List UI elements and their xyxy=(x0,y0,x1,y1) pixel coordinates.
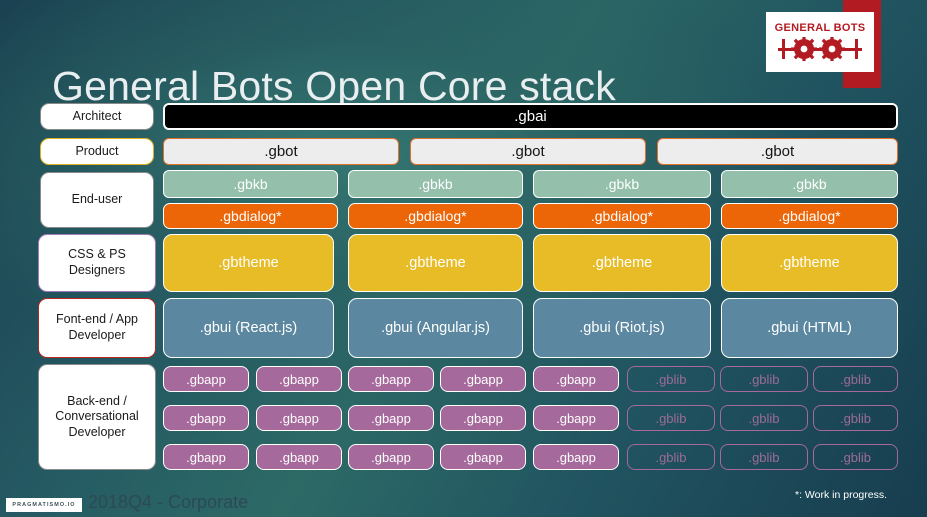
general-bots-logo: GENERAL BOTS xyxy=(766,12,874,72)
stack-box-gbtheme[interactable]: .gbtheme xyxy=(721,234,898,292)
stack-box-gbapp[interactable]: .gbapp xyxy=(163,405,249,431)
stack-box-gblib[interactable]: .gblib xyxy=(813,444,898,470)
stack-box-gblib[interactable]: .gblib xyxy=(813,405,898,431)
stack-box-gbui-html[interactable]: .gbui (HTML) xyxy=(721,298,898,358)
stack-box-gbapp[interactable]: .gbapp xyxy=(533,366,619,392)
pragmatismo-logo-text: PRAGMATISMO.IO xyxy=(12,502,75,508)
role-label-architect: Architect xyxy=(40,103,154,130)
footnote-work-in-progress: *: Work in progress. xyxy=(795,489,887,501)
role-label-frontend-app-developer: Font-end / App Developer xyxy=(38,298,156,358)
stack-box-gblib[interactable]: .gblib xyxy=(720,366,808,392)
stack-box-gbapp[interactable]: .gbapp xyxy=(440,405,526,431)
pragmatismo-logo: PRAGMATISMO.IO xyxy=(6,498,82,512)
stack-box-gbot[interactable]: .gbot xyxy=(163,138,399,165)
footer-caption: 2018Q4 - Corporate xyxy=(88,492,248,513)
logo-wordmark: GENERAL BOTS xyxy=(775,23,866,34)
slide-canvas: GENERAL BOTS xyxy=(0,0,927,517)
stack-box-gbkb[interactable]: .gbkb xyxy=(163,170,338,198)
stack-box-gbapp[interactable]: .gbapp xyxy=(348,366,434,392)
role-label-product: Product xyxy=(40,138,154,165)
stack-box-gbapp[interactable]: .gbapp xyxy=(440,444,526,470)
stack-box-gbapp[interactable]: .gbapp xyxy=(440,366,526,392)
stack-box-gbapp[interactable]: .gbapp xyxy=(256,405,342,431)
stack-box-gbui-angular[interactable]: .gbui (Angular.js) xyxy=(348,298,523,358)
stack-box-gbtheme[interactable]: .gbtheme xyxy=(348,234,523,292)
stack-box-gbapp[interactable]: .gbapp xyxy=(533,444,619,470)
gears-logo-icon xyxy=(778,37,862,61)
stack-box-gbdialog[interactable]: .gbdialog* xyxy=(533,203,711,229)
stack-box-gblib[interactable]: .gblib xyxy=(627,444,715,470)
stack-box-gbkb[interactable]: .gbkb xyxy=(721,170,898,198)
stack-box-gblib[interactable]: .gblib xyxy=(720,444,808,470)
stack-box-gbapp[interactable]: .gbapp xyxy=(348,444,434,470)
role-label-end-user: End-user xyxy=(40,172,154,228)
stack-box-gblib[interactable]: .gblib xyxy=(627,366,715,392)
stack-box-gblib[interactable]: .gblib xyxy=(720,405,808,431)
stack-box-gbot[interactable]: .gbot xyxy=(657,138,898,165)
role-label-backend-conversational-developer: Back-end / Conversational Developer xyxy=(38,364,156,470)
stack-box-gbdialog[interactable]: .gbdialog* xyxy=(721,203,898,229)
stack-box-gbot[interactable]: .gbot xyxy=(410,138,646,165)
stack-box-gbdialog[interactable]: .gbdialog* xyxy=(163,203,338,229)
stack-box-gbtheme[interactable]: .gbtheme xyxy=(533,234,711,292)
role-label-css-ps-designers: CSS & PS Designers xyxy=(38,234,156,292)
stack-box-gbkb[interactable]: .gbkb xyxy=(348,170,523,198)
stack-box-gbtheme[interactable]: .gbtheme xyxy=(163,234,334,292)
stack-box-gbdialog[interactable]: .gbdialog* xyxy=(348,203,523,229)
stack-box-gbai[interactable]: .gbai xyxy=(163,103,898,130)
stack-box-gblib[interactable]: .gblib xyxy=(627,405,715,431)
stack-box-gbapp[interactable]: .gbapp xyxy=(256,444,342,470)
stack-box-gbapp[interactable]: .gbapp xyxy=(348,405,434,431)
stack-box-gbapp[interactable]: .gbapp xyxy=(163,366,249,392)
stack-box-gblib[interactable]: .gblib xyxy=(813,366,898,392)
stack-box-gbkb[interactable]: .gbkb xyxy=(533,170,711,198)
stack-box-gbapp[interactable]: .gbapp xyxy=(533,405,619,431)
stack-box-gbapp[interactable]: .gbapp xyxy=(256,366,342,392)
stack-box-gbui-riot[interactable]: .gbui (Riot.js) xyxy=(533,298,711,358)
stack-box-gbui-react[interactable]: .gbui (React.js) xyxy=(163,298,334,358)
stack-box-gbapp[interactable]: .gbapp xyxy=(163,444,249,470)
